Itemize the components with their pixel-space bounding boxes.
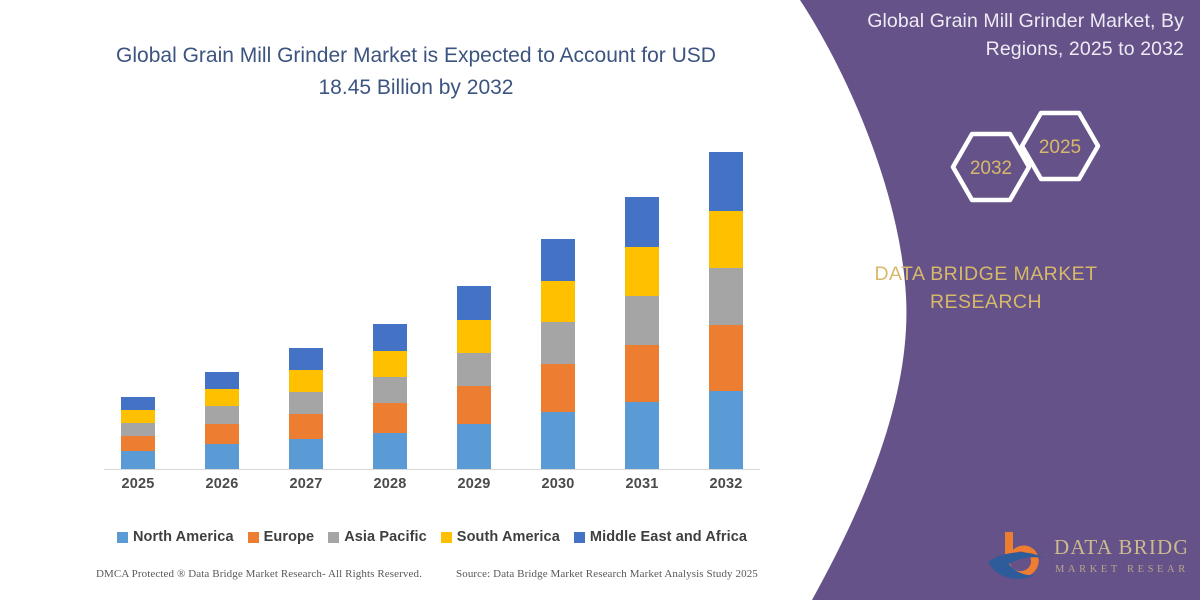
bar-segment [457, 386, 491, 424]
bar-segment [541, 364, 575, 412]
x-axis-label-2027: 2027 [271, 476, 341, 492]
bar-segment [289, 414, 323, 439]
bar-segment [205, 372, 239, 389]
bar-segment [373, 433, 407, 469]
bar-segment [709, 325, 743, 391]
hexagon-2025: 2025 [1022, 113, 1098, 179]
legend-swatch-icon [574, 532, 585, 543]
x-axis-label-2025: 2025 [103, 476, 173, 492]
stacked-bar-chart: 20252026202720282029203020312032 [96, 140, 768, 476]
bar-segment [709, 391, 743, 469]
hexagon-year-group: 2032 2025 [924, 108, 1114, 228]
bar-segment [625, 402, 659, 469]
legend-label: North America [133, 529, 234, 545]
bar-2030 [541, 239, 575, 469]
legend-item[interactable]: Asia Pacific [328, 529, 427, 545]
bar-segment [709, 268, 743, 325]
brand-name: DATA BRIDGE MARKET RESEARCH [784, 261, 1188, 316]
legend-item[interactable]: Europe [248, 529, 315, 545]
bar-2031 [625, 197, 659, 469]
legend-label: Europe [264, 529, 315, 545]
x-axis-labels: 20252026202720282029203020312032 [96, 476, 768, 502]
legend-label: South America [457, 529, 560, 545]
footer-source-text: Source: Data Bridge Market Research Mark… [456, 568, 758, 580]
brand-name-line1: DATA BRIDGE MARKET [784, 261, 1188, 289]
legend-label: Asia Pacific [344, 529, 427, 545]
hexagon-2032-label: 2032 [970, 158, 1012, 179]
bar-segment [457, 286, 491, 320]
logo-text-line1: DATA BRIDGE [1054, 535, 1186, 559]
chart-legend: North AmericaEuropeAsia PacificSouth Ame… [96, 529, 768, 545]
footer: DMCA Protected ® Data Bridge Market Rese… [0, 568, 800, 590]
bar-2026 [205, 372, 239, 469]
bar-segment [541, 281, 575, 322]
x-axis-line [104, 469, 760, 470]
bar-segment [205, 389, 239, 406]
bar-segment [373, 403, 407, 433]
x-axis-label-2029: 2029 [439, 476, 509, 492]
bar-segment [121, 451, 155, 469]
chart-plot-area [96, 140, 768, 470]
bar-segment [121, 397, 155, 410]
legend-item[interactable]: Middle East and Africa [574, 529, 747, 545]
bar-2029 [457, 286, 491, 469]
logo-text-line2: MARKET RESEARCH [1055, 564, 1186, 575]
legend-item[interactable]: South America [441, 529, 560, 545]
x-axis-label-2028: 2028 [355, 476, 425, 492]
x-axis-label-2032: 2032 [691, 476, 761, 492]
bar-segment [625, 345, 659, 402]
bar-2032 [709, 152, 743, 469]
bar-segment [289, 370, 323, 392]
bar-segment [289, 392, 323, 414]
bar-segment [373, 351, 407, 377]
legend-swatch-icon [328, 532, 339, 543]
bar-segment [541, 322, 575, 364]
bar-segment [709, 152, 743, 211]
bar-2027 [289, 348, 323, 469]
data-bridge-logo: DATA BRIDGE MARKET RESEARCH [982, 524, 1186, 586]
bar-segment [121, 410, 155, 423]
footer-dmca-text: DMCA Protected ® Data Bridge Market Rese… [96, 568, 422, 580]
legend-label: Middle East and Africa [590, 529, 747, 545]
legend-swatch-icon [441, 532, 452, 543]
logo-b-mark-icon [988, 532, 1044, 579]
bar-segment [373, 324, 407, 351]
panel-title: Global Grain Mill Grinder Market, By Reg… [828, 8, 1184, 63]
bar-segment [457, 424, 491, 469]
bar-segment [625, 296, 659, 345]
x-axis-label-2030: 2030 [523, 476, 593, 492]
bar-segment [289, 439, 323, 469]
bar-2028 [373, 324, 407, 469]
brand-name-line2: RESEARCH [784, 289, 1188, 317]
legend-swatch-icon [248, 532, 259, 543]
hexagon-2032: 2032 [953, 134, 1029, 200]
legend-item[interactable]: North America [117, 529, 234, 545]
bar-segment [541, 412, 575, 469]
page-title: Global Grain Mill Grinder Market is Expe… [92, 40, 740, 104]
bar-segment [205, 424, 239, 444]
bar-segment [625, 197, 659, 247]
hexagon-2025-label: 2025 [1039, 137, 1081, 158]
bar-segment [541, 239, 575, 281]
bar-segment [205, 406, 239, 424]
x-axis-label-2031: 2031 [607, 476, 677, 492]
bar-segment [121, 436, 155, 451]
bar-segment [457, 353, 491, 386]
bar-segment [709, 211, 743, 268]
bar-2025 [121, 397, 155, 469]
bar-segment [121, 423, 155, 436]
bar-segment [205, 444, 239, 469]
bar-segment [373, 377, 407, 403]
bar-segment [289, 348, 323, 370]
bar-segment [457, 320, 491, 353]
legend-swatch-icon [117, 532, 128, 543]
x-axis-label-2026: 2026 [187, 476, 257, 492]
infographic-canvas: Global Grain Mill Grinder Market, By Reg… [0, 0, 1200, 600]
bar-segment [625, 247, 659, 296]
